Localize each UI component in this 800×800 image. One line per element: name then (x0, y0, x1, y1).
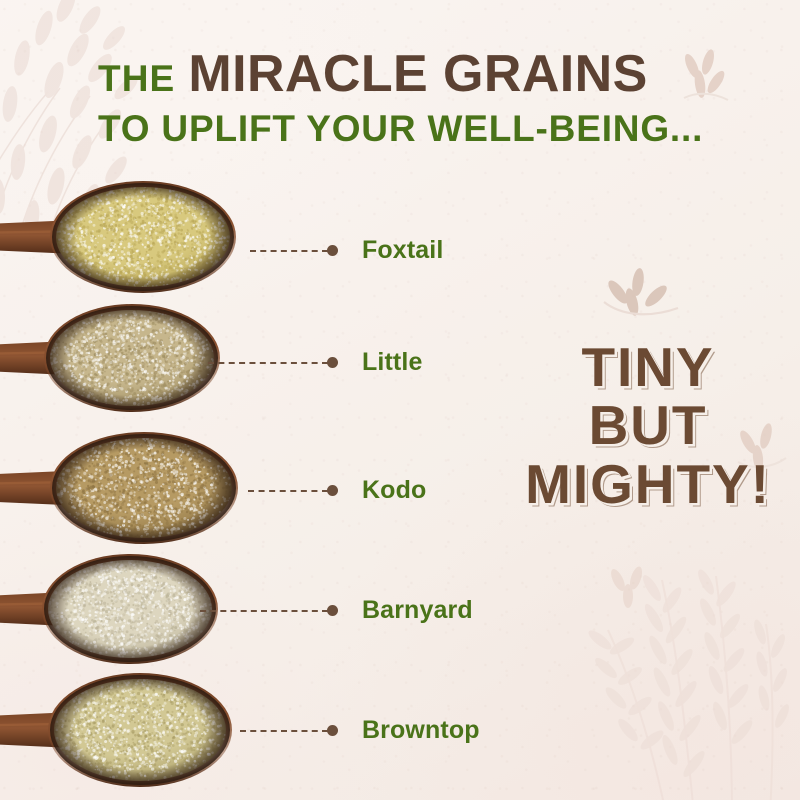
spoon-bowl-inner-shadow (50, 675, 230, 785)
spoon-bowl-inner-shadow (52, 434, 236, 542)
callout-dot (327, 485, 338, 496)
spoon-bowl-inner-shadow (52, 183, 234, 291)
callout-dot (327, 245, 338, 256)
grain-callout-row: Barnyard (200, 596, 473, 625)
headline-the: THE (98, 60, 175, 97)
headline-block: THE MIRACLE GRAINS TO UPLIFT YOUR WELL-B… (98, 48, 748, 147)
grain-seed-cluster-icon (598, 268, 684, 330)
callout-dot (327, 725, 338, 736)
spoon-with-millet (0, 668, 234, 792)
grain-label-foxtail[interactable]: Foxtail (362, 236, 443, 265)
slogan-line-3: MIGHTY! (500, 455, 796, 513)
spoon-with-millet (0, 178, 238, 296)
pampas-grass-watermark (574, 484, 800, 800)
headline-line-1: THE MIRACLE GRAINS (98, 48, 748, 100)
callout-dot (327, 605, 338, 616)
grain-seed-cluster-icon (600, 560, 664, 614)
spoon-bowl-inner-shadow (46, 306, 218, 410)
spoon-with-millet (0, 550, 220, 668)
headline-miracle-grains: MIRACLE GRAINS (188, 48, 647, 100)
grain-label-kodo[interactable]: Kodo (362, 476, 426, 505)
grain-label-barnyard[interactable]: Barnyard (362, 596, 473, 625)
grain-callout-row: Browntop (240, 716, 480, 745)
callout-dot (327, 357, 338, 368)
spoon-with-millet (0, 428, 240, 548)
callout-dashed-line (248, 490, 328, 492)
grain-label-little[interactable]: Little (362, 348, 422, 377)
callout-dashed-line (208, 362, 328, 364)
spoon-bowl-inner-shadow (44, 556, 216, 662)
callout-dashed-line (200, 610, 328, 612)
spoon-with-millet (0, 300, 222, 416)
callout-dashed-line (240, 730, 328, 732)
grain-label-browntop[interactable]: Browntop (362, 716, 480, 745)
poster-canvas: THE MIRACLE GRAINS TO UPLIFT YOUR WELL-B… (0, 0, 800, 800)
slogan-line-2: BUT (500, 396, 796, 454)
slogan-line-1: TINY (500, 338, 796, 396)
callout-dashed-line (250, 250, 328, 252)
grain-callout-row: Foxtail (250, 236, 443, 265)
slogan-block: TINY BUT MIGHTY! (500, 338, 796, 513)
grain-callout-row: Kodo (248, 476, 426, 505)
grain-callout-row: Little (208, 348, 422, 377)
headline-line-2: TO UPLIFT YOUR WELL-BEING... (98, 110, 748, 147)
